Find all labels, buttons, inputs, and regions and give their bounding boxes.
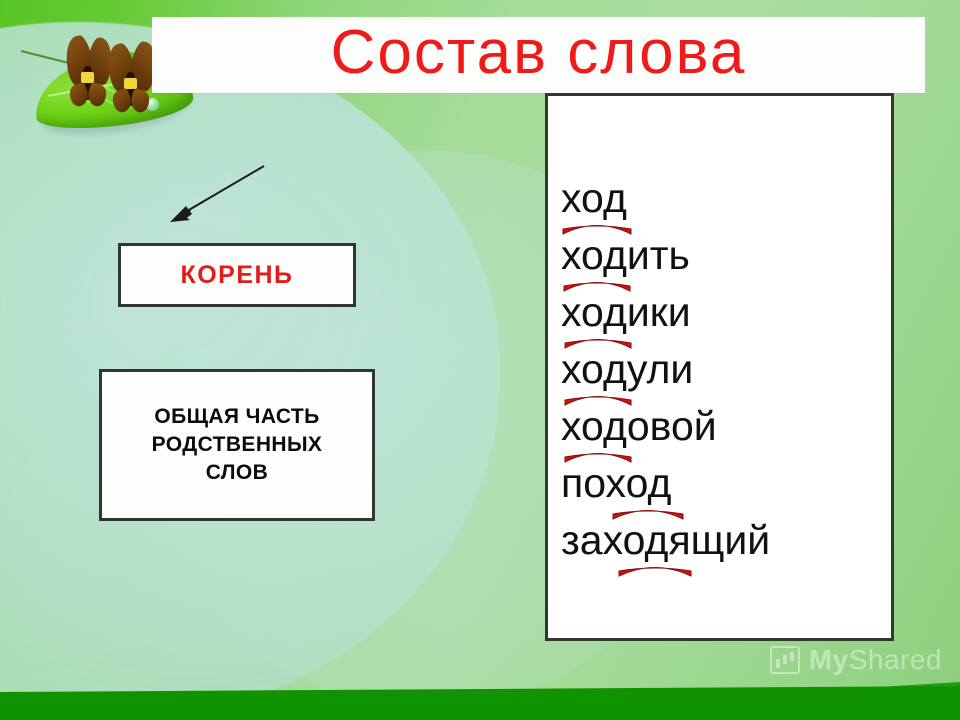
term-label: КОРЕНЬ bbox=[180, 261, 293, 290]
word-text: заходящий bbox=[561, 520, 770, 561]
slide-canvas: Состав слова КОРЕНЬ ОБЩАЯ ЧАСТЬ РОДСТВЕН… bbox=[0, 0, 960, 720]
watermark-text: MyShared bbox=[809, 644, 942, 676]
word-list: ходходитьходикиходулиходовойпоходзаходящ… bbox=[561, 178, 891, 577]
presentation-chart-icon bbox=[770, 646, 800, 674]
word-text: ходули bbox=[561, 349, 693, 390]
word-row: ходовой bbox=[561, 406, 891, 463]
word-row: ходить bbox=[561, 235, 891, 292]
word-row: ходули bbox=[561, 349, 891, 406]
word-text: поход bbox=[561, 463, 671, 504]
word-row: заходящий bbox=[561, 520, 891, 577]
watermark-shared: Shared bbox=[849, 644, 942, 675]
word-row: ходики bbox=[561, 292, 891, 349]
word-text: ходовой bbox=[561, 406, 717, 447]
title-banner: Состав слова bbox=[152, 17, 925, 93]
word-text: ход bbox=[561, 178, 627, 219]
pointer-arrow bbox=[160, 160, 270, 235]
page-title: Состав слова bbox=[331, 22, 747, 88]
term-box-koren: КОРЕНЬ bbox=[118, 243, 356, 307]
word-row: ход bbox=[561, 178, 891, 235]
definition-line-3: СЛОВ bbox=[152, 459, 323, 487]
word-row: поход bbox=[561, 463, 891, 520]
word-text: ходить bbox=[561, 235, 690, 276]
words-panel: ходходитьходикиходулиходовойпоходзаходящ… bbox=[545, 93, 894, 641]
watermark: MyShared bbox=[770, 644, 942, 676]
definition-box: ОБЩАЯ ЧАСТЬ РОДСТВЕННЫХ СЛОВ bbox=[99, 369, 375, 521]
definition-text: ОБЩАЯ ЧАСТЬ РОДСТВЕННЫХ СЛОВ bbox=[152, 403, 323, 486]
word-text: ходики bbox=[561, 292, 691, 333]
definition-line-2: РОДСТВЕННЫХ bbox=[152, 431, 323, 459]
root-arc-marker bbox=[617, 562, 693, 579]
definition-line-1: ОБЩАЯ ЧАСТЬ bbox=[152, 403, 323, 431]
watermark-my: My bbox=[809, 644, 849, 675]
